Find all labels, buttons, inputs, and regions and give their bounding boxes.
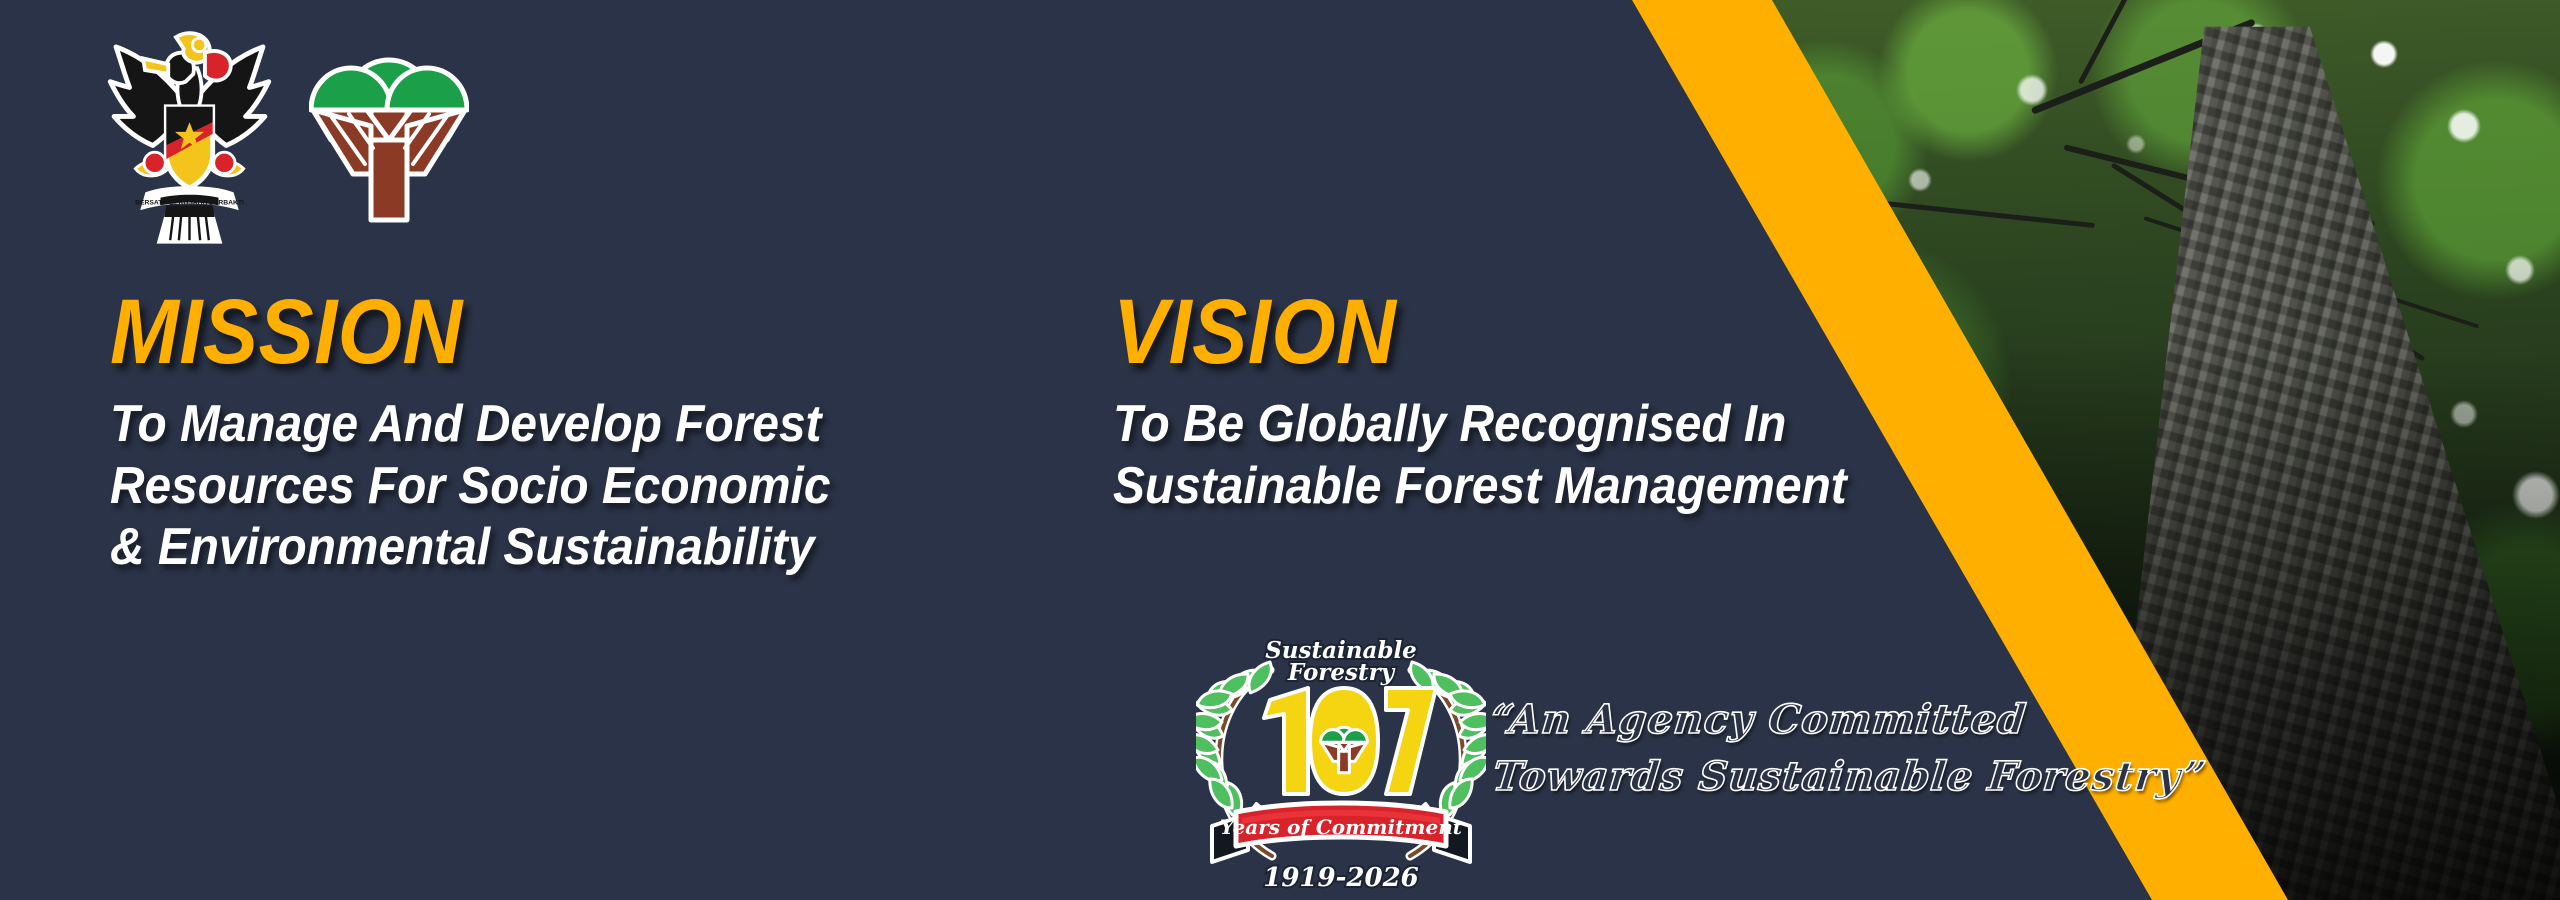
emblem-ribbon: Years of Commitment [1212,803,1470,862]
emblem-script-line-2: Forestry [1287,659,1396,686]
mission-line-3: & Environmental Sustainability [110,517,830,578]
vision-heading: VISION [1113,288,1831,376]
vision-line-2: Sustainable Forest Management [1113,456,1847,517]
tagline: “An Agency Committed Towards Sustainable… [1482,692,2094,806]
mission-block: MISSION To Manage And Develop Forest Res… [110,288,893,578]
anniversary-emblem-icon: Sustainable Forestry [1196,622,1486,900]
emblem-ribbon-text: Years of Commitment [1220,815,1463,839]
emblem-years-text: 1919-2026 [1263,863,1419,893]
forest-department-tree-logo-icon [309,14,469,230]
anniversary-emblem: Sustainable Forestry [1196,622,1486,900]
vision-line-1: To Be Globally Recognised In [1113,394,1847,455]
sarawak-coat-of-arms-icon: BERSATU BERUSAHA BERBAKTI [92,14,287,246]
tagline-line-1: “An Agency Committed [1488,692,2094,749]
crest-motto: BERSATU BERUSAHA BERBAKTI [135,199,244,206]
vision-block: VISION To Be Globally Recognised In Sust… [1113,288,1911,517]
tagline-line-2: Towards Sustainable Forestry” [1482,749,2088,806]
mission-vision-banner: BERSATU BERUSAHA BERBAKTI MIS [0,0,2560,900]
mission-line-1: To Manage And Develop Forest [110,394,830,455]
mission-heading: MISSION [110,288,815,376]
logo-row: BERSATU BERUSAHA BERBAKTI [92,14,469,246]
mission-line-2: Resources For Socio Economic [110,456,830,517]
emblem-number-107 [1264,688,1436,794]
